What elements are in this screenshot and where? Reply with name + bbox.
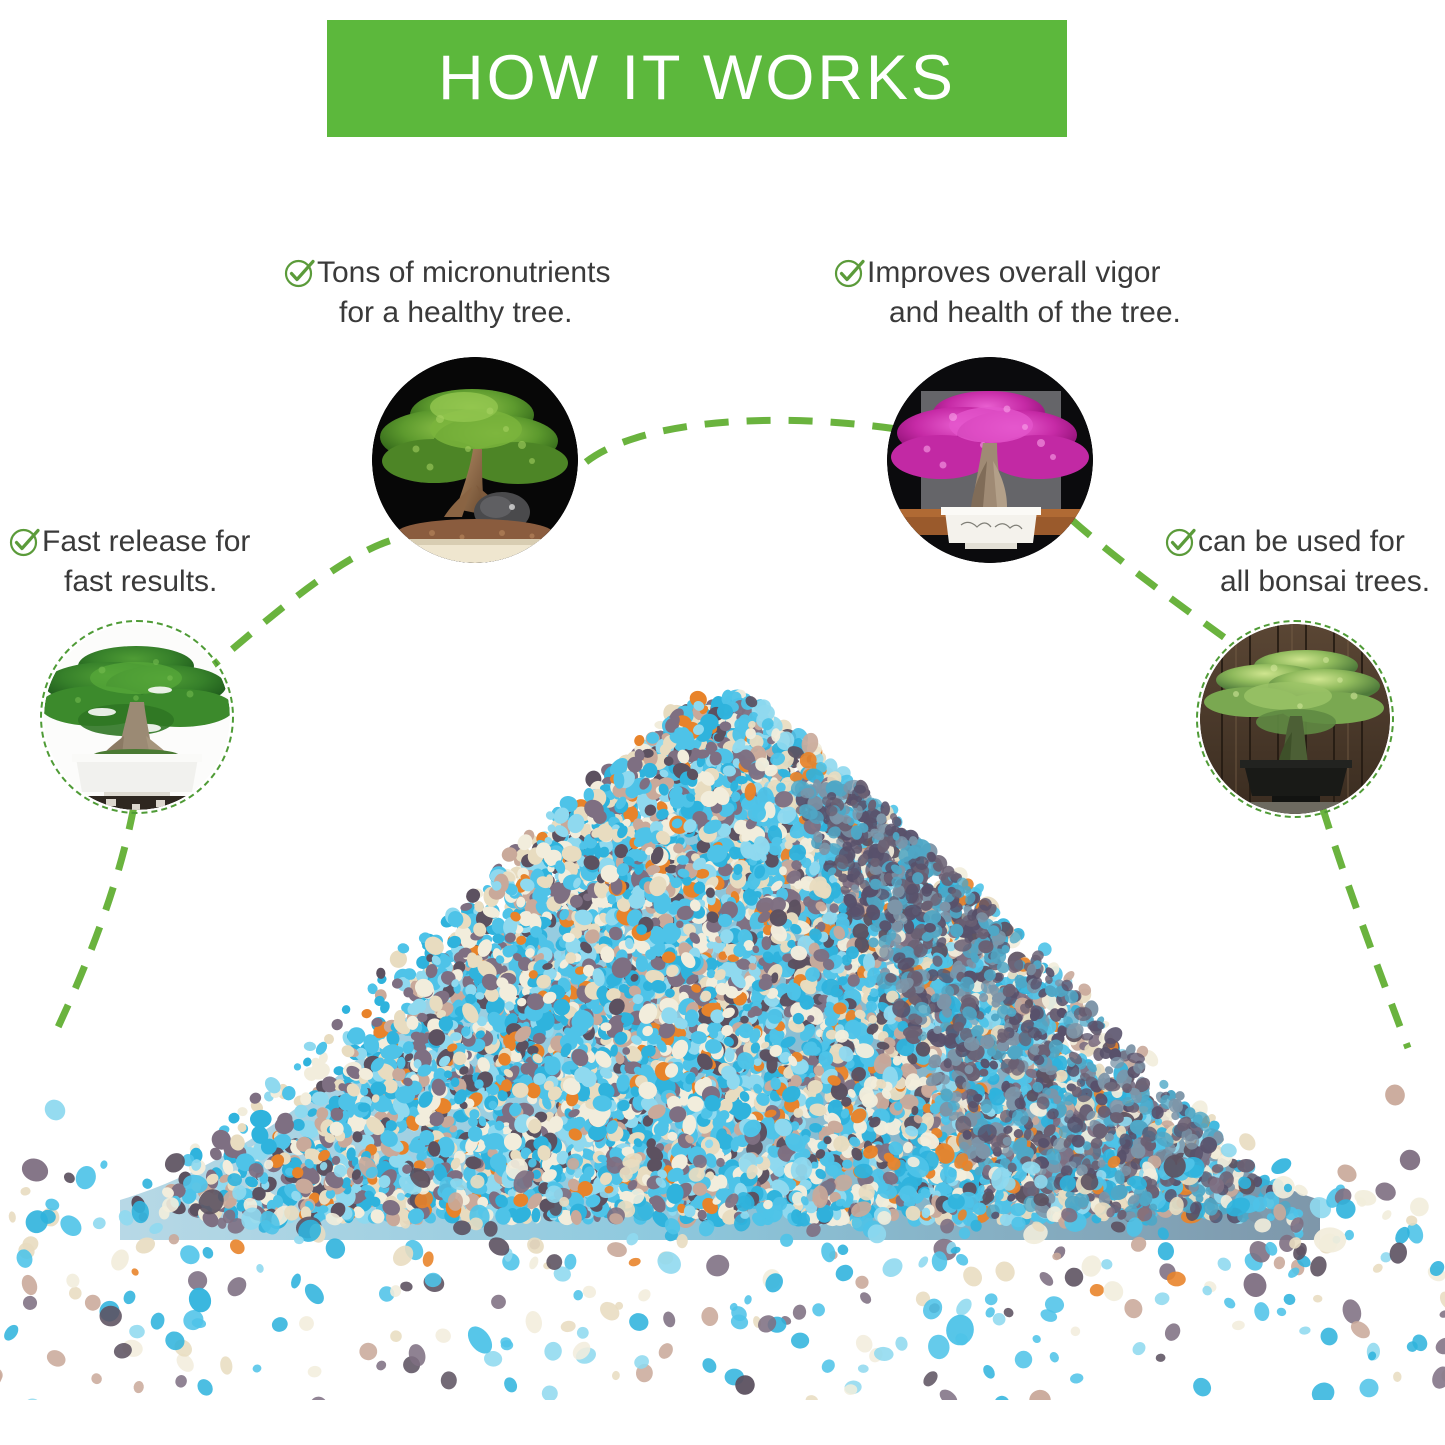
callout-text: Improves overall vigorand health of the …: [867, 253, 1181, 333]
check-circle-icon: [833, 255, 867, 289]
callout-line-1: Tons of micronutrients: [317, 256, 610, 289]
check-circle-icon: [283, 255, 317, 289]
header-banner: HOW IT WORKS: [327, 20, 1067, 137]
callout-text: Fast release forfast results.: [42, 522, 250, 602]
callout-line-1: can be used for: [1198, 525, 1405, 558]
photo-green-bonsai-dark: [372, 357, 578, 563]
callout-line-1: Fast release for: [42, 525, 250, 558]
infographic-canvas: HOW IT WORKS: [0, 0, 1445, 1445]
green-bonsai-dark-illustration: [372, 357, 578, 563]
callout-text: Tons of micronutrientsfor a healthy tree…: [317, 253, 610, 333]
callout-line-2: for a healthy tree.: [317, 293, 610, 333]
check-circle-icon: [1164, 524, 1198, 558]
callout-line-2: all bonsai trees.: [1198, 562, 1430, 602]
callout-can-be-used-for-all-bonsai: can be used forall bonsai trees.: [1164, 522, 1430, 602]
callout-tons-of-micronutrients: Tons of micronutrientsfor a healthy tree…: [283, 253, 610, 333]
callout-line-2: fast results.: [42, 562, 250, 602]
callout-fast-release: Fast release forfast results.: [8, 522, 250, 602]
callout-line-2: and health of the tree.: [867, 293, 1181, 333]
check-circle-icon: [8, 524, 42, 558]
magenta-bonsai-illustration: [887, 357, 1093, 563]
callout-line-1: Improves overall vigor: [867, 256, 1160, 289]
callout-improves-overall-vigor: Improves overall vigorand health of the …: [833, 253, 1181, 333]
granule-layer: [0, 687, 1445, 1400]
photo-magenta-flowering-bonsai: [887, 357, 1093, 563]
fertilizer-granule-pile: [0, 640, 1445, 1400]
callout-text: can be used forall bonsai trees.: [1198, 522, 1430, 602]
page-title: HOW IT WORKS: [438, 47, 956, 110]
